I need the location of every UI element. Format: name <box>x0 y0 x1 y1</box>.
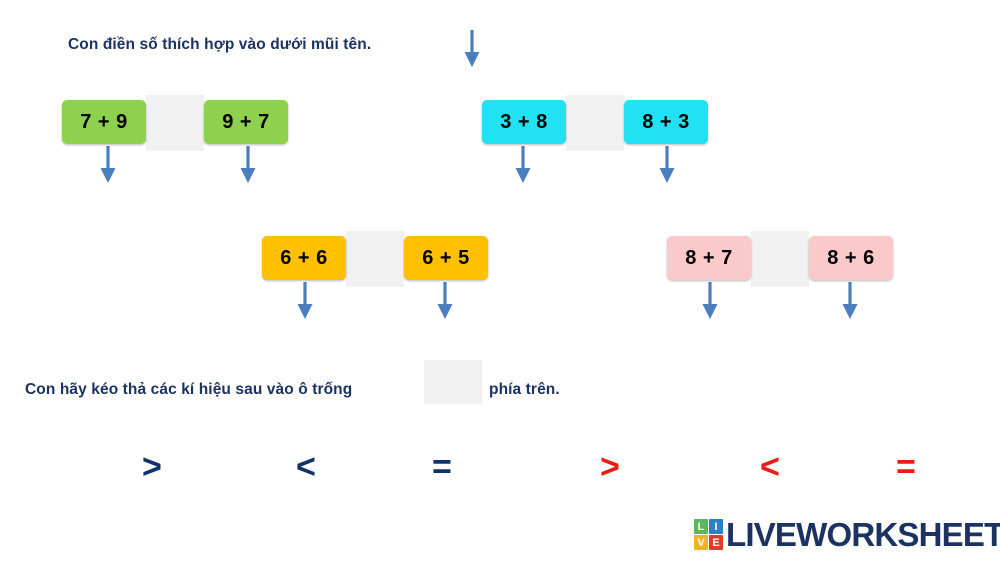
tile-pair-2-left: 3 + 8 <box>482 100 566 144</box>
instruction-bottom-second-part: phía trên. <box>489 381 560 399</box>
dropzone-pair-4[interactable] <box>751 231 809 287</box>
dropzone-pair-3[interactable] <box>346 231 404 287</box>
logo-tile-e: E <box>709 535 723 550</box>
draggable-symbol-greater-navy[interactable]: > <box>142 450 162 484</box>
down-arrow-icon <box>99 146 117 184</box>
liveworksheets-wordmark: LIVEWORKSHEETS <box>726 518 1000 551</box>
dropzone-pair-1[interactable] <box>146 95 204 151</box>
draggable-symbol-greater-red[interactable]: > <box>600 450 620 484</box>
down-arrow-icon <box>514 146 532 184</box>
down-arrow-icon <box>658 146 676 184</box>
down-arrow-icon <box>436 282 454 320</box>
down-arrow-icon <box>701 282 719 320</box>
tile-pair-2-right: 8 + 3 <box>624 100 708 144</box>
dropzone-inline-example[interactable] <box>424 360 482 404</box>
worksheet-page: Con điền số thích hợp vào dưới mũi tên. … <box>0 0 1000 562</box>
draggable-symbol-equal-navy[interactable]: = <box>432 450 452 484</box>
tile-pair-4-right: 8 + 6 <box>809 236 893 280</box>
instruction-bottom-first-part: Con hãy kéo thả các kí hiệu sau vào ô tr… <box>25 381 352 399</box>
dropzone-pair-2[interactable] <box>566 95 624 151</box>
tile-pair-1-right: 9 + 7 <box>204 100 288 144</box>
tile-pair-3-left: 6 + 6 <box>262 236 346 280</box>
logo-tile-l: L <box>694 519 708 534</box>
draggable-symbol-less-red[interactable]: < <box>760 450 780 484</box>
down-arrow-icon <box>463 30 481 68</box>
liveworksheets-logo-mark: L I V E <box>694 519 723 550</box>
logo-tile-i: I <box>709 519 723 534</box>
tile-pair-3-right: 6 + 5 <box>404 236 488 280</box>
draggable-symbol-less-navy[interactable]: < <box>296 450 316 484</box>
logo-tile-v: V <box>694 535 708 550</box>
tile-pair-4-left: 8 + 7 <box>667 236 751 280</box>
tile-pair-1-left: 7 + 9 <box>62 100 146 144</box>
down-arrow-icon <box>841 282 859 320</box>
down-arrow-icon <box>239 146 257 184</box>
liveworksheets-logo: L I V E LIVEWORKSHEETS <box>694 518 1000 551</box>
draggable-symbol-equal-red[interactable]: = <box>896 450 916 484</box>
down-arrow-icon <box>296 282 314 320</box>
instruction-top: Con điền số thích hợp vào dưới mũi tên. <box>68 36 371 54</box>
